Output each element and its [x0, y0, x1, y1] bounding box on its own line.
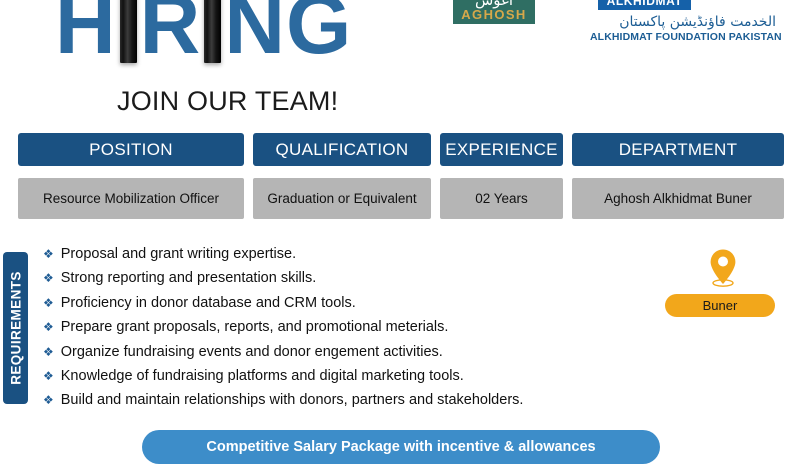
list-item: ❖ Strong reporting and presentation skil…	[43, 270, 663, 294]
list-item: ❖ Organize fundraising events and donor …	[43, 344, 663, 368]
requirements-tab-label: REQUIREMENTS	[8, 271, 23, 385]
bullet-diamond-icon: ❖	[43, 320, 54, 334]
location-badge: Buner	[665, 248, 783, 318]
hiring-title: HRNG	[55, 0, 455, 74]
location-label: Buner	[703, 298, 738, 313]
aghosh-logo-english: AGHOSH	[461, 8, 526, 22]
hiring-title-part-3: NG	[224, 0, 352, 71]
logo-group: آغوش AGHOSH ALKHIDMAT الخدمت فاؤنڈیشن پا…	[448, 0, 778, 66]
bullet-diamond-icon: ❖	[43, 393, 54, 407]
marker-pen-icon	[120, 0, 137, 63]
hiring-title-part-1: H	[55, 0, 117, 71]
table-header-cell-department: DEPARTMENT	[572, 133, 784, 166]
bullet-diamond-icon: ❖	[43, 345, 54, 359]
requirements-tab: REQUIREMENTS	[3, 252, 28, 404]
list-item-text: Proficiency in donor database and CRM to…	[61, 295, 356, 311]
list-item: ❖ Knowledge of fundraising platforms and…	[43, 368, 663, 392]
bullet-diamond-icon: ❖	[43, 369, 54, 383]
foundation-name-english: ALKHIDMAT FOUNDATION PAKISTAN	[590, 31, 776, 43]
list-item: ❖ Proposal and grant writing expertise.	[43, 246, 663, 270]
join-our-team-subtitle: JOIN OUR TEAM!	[117, 86, 338, 117]
job-details-table: POSITION QUALIFICATION EXPERIENCE DEPART…	[0, 133, 800, 225]
alkhidmat-logo: ALKHIDMAT	[598, 0, 691, 10]
hiring-title-part-2: R	[140, 0, 202, 71]
table-cell-qualification: Graduation or Equivalent	[253, 178, 431, 219]
marker-pen-icon-2	[204, 0, 221, 63]
aghosh-logo: آغوش AGHOSH	[453, 0, 535, 24]
map-pin-icon	[707, 248, 739, 288]
foundation-name-arabic: الخدمت فاؤنڈیشن پاکستان	[590, 14, 776, 30]
list-item: ❖ Build and maintain relationships with …	[43, 392, 663, 416]
table-header-cell-qualification: QUALIFICATION	[253, 133, 431, 166]
table-header-cell-experience: EXPERIENCE	[440, 133, 563, 166]
list-item-text: Prepare grant proposals, reports, and pr…	[61, 319, 449, 335]
table-header-row: POSITION QUALIFICATION EXPERIENCE DEPART…	[0, 133, 800, 166]
list-item: ❖ Prepare grant proposals, reports, and …	[43, 319, 663, 343]
bullet-diamond-icon: ❖	[43, 296, 54, 310]
table-row: Resource Mobilization Officer Graduation…	[0, 178, 800, 219]
salary-banner: Competitive Salary Package with incentiv…	[142, 430, 660, 464]
list-item-text: Strong reporting and presentation skills…	[61, 270, 317, 286]
table-cell-department: Aghosh Alkhidmat Buner	[572, 178, 784, 219]
alkhidmat-logo-text: ALKHIDMAT	[607, 0, 683, 8]
bullet-diamond-icon: ❖	[43, 247, 54, 261]
salary-banner-text: Competitive Salary Package with incentiv…	[206, 439, 595, 455]
list-item: ❖ Proficiency in donor database and CRM …	[43, 295, 663, 319]
hero-section: HRNG JOIN OUR TEAM!	[0, 0, 460, 125]
table-cell-experience: 02 Years	[440, 178, 563, 219]
list-item-text: Proposal and grant writing expertise.	[61, 246, 296, 262]
location-pill: Buner	[665, 294, 775, 317]
list-item-text: Knowledge of fundraising platforms and d…	[61, 368, 464, 384]
hiring-headline: HRNG	[55, 0, 455, 74]
table-cell-position: Resource Mobilization Officer	[18, 178, 244, 219]
bullet-diamond-icon: ❖	[43, 271, 54, 285]
table-header-cell-position: POSITION	[18, 133, 244, 166]
requirements-list: ❖ Proposal and grant writing expertise. …	[43, 246, 663, 417]
list-item-text: Build and maintain relationships with do…	[61, 392, 524, 408]
list-item-text: Organize fundraising events and donor en…	[61, 344, 443, 360]
